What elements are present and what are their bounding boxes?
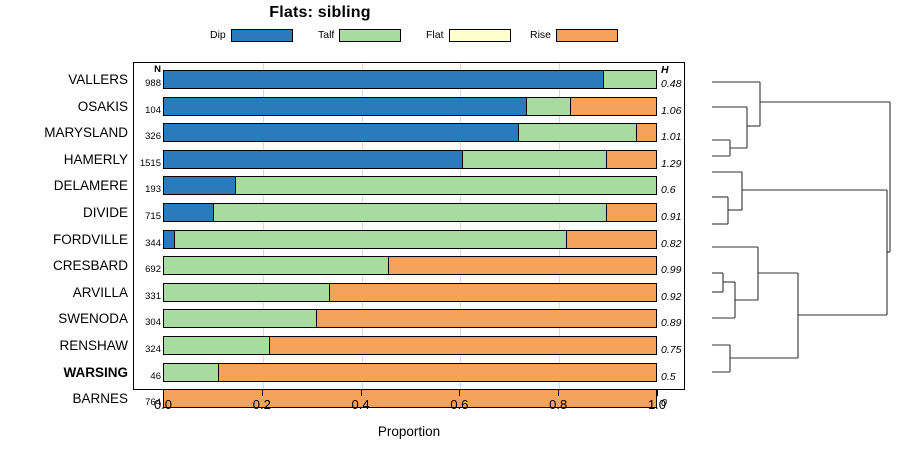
bar-segment-rise[interactable] <box>606 151 656 168</box>
bar-segment-dip[interactable] <box>164 151 462 168</box>
legend: DipTalfFlatRise <box>210 26 610 44</box>
bar-segment-rise[interactable] <box>329 284 656 301</box>
h-value: 0.91 <box>661 211 691 223</box>
h-value: 0.6 <box>661 184 691 196</box>
x-axis-tick <box>558 390 559 396</box>
bar-segment-talf[interactable] <box>174 231 566 248</box>
x-axis-tick <box>657 390 658 396</box>
legend-item-talf: Talf <box>318 26 401 44</box>
y-axis-label-renshaw: RENSHAW <box>0 339 128 353</box>
n-value: 193 <box>134 184 161 195</box>
bar-segment-rise[interactable] <box>269 337 656 354</box>
n-value: 46 <box>134 371 161 382</box>
legend-swatch <box>339 29 401 42</box>
stacked-bar-cresbard[interactable] <box>163 256 657 275</box>
stacked-bar-vallers[interactable] <box>163 70 657 89</box>
bar-segment-dip[interactable] <box>164 124 518 141</box>
bar-segment-talf[interactable] <box>164 310 316 327</box>
n-value: 304 <box>134 317 161 328</box>
cluster-dendrogram <box>690 60 900 400</box>
chart-root: Flats: sibling DipTalfFlatRise VALLERSOS… <box>0 0 900 460</box>
x-axis-tick-label: 0.8 <box>528 397 588 412</box>
h-value: 1.06 <box>661 105 691 117</box>
n-value: 326 <box>134 131 161 142</box>
bar-segment-talf[interactable] <box>213 204 607 221</box>
n-value: 988 <box>134 78 161 89</box>
stacked-bar-delamere[interactable] <box>163 176 657 195</box>
x-axis-title: Proportion <box>133 424 685 439</box>
legend-swatch <box>231 29 293 42</box>
x-axis-tick-label: 0.4 <box>331 397 391 412</box>
y-axis-label-delamere: DELAMERE <box>0 179 128 193</box>
bar-segment-dip[interactable] <box>164 98 526 115</box>
h-value: 1.29 <box>661 158 691 170</box>
h-value: 0.75 <box>661 344 691 356</box>
y-axis-label-divide: DIVIDE <box>0 206 128 220</box>
bar-segment-talf[interactable] <box>603 71 656 88</box>
bar-segment-talf[interactable] <box>235 177 656 194</box>
bar-segment-rise[interactable] <box>388 257 656 274</box>
legend-label: Talf <box>318 29 334 41</box>
bar-segment-dip[interactable] <box>164 204 213 221</box>
n-value: 324 <box>134 344 161 355</box>
x-axis-tick-label: 1.0 <box>627 397 687 412</box>
dendrogram-links <box>712 82 890 372</box>
legend-swatch <box>556 29 618 42</box>
h-column-header: H <box>661 64 691 76</box>
stacked-bar-warsing[interactable] <box>163 363 657 382</box>
n-value: 715 <box>134 211 161 222</box>
legend-item-flat: Flat <box>426 26 511 44</box>
bar-segment-dip[interactable] <box>164 71 603 88</box>
x-axis-tick-label: 0.6 <box>429 397 489 412</box>
h-value: 0.82 <box>661 238 691 250</box>
stacked-bar-divide[interactable] <box>163 203 657 222</box>
bar-segment-dip[interactable] <box>164 177 235 194</box>
bar-segment-dip[interactable] <box>164 231 174 248</box>
n-value: 1515 <box>134 158 161 169</box>
y-axis-label-fordville: FORDVILLE <box>0 233 128 247</box>
y-axis-label-arvilla: ARVILLA <box>0 286 128 300</box>
x-axis-tick <box>361 390 362 396</box>
bar-segment-talf[interactable] <box>164 337 269 354</box>
h-value: 0.48 <box>661 78 691 90</box>
h-value: 0.92 <box>661 291 691 303</box>
bar-segment-talf[interactable] <box>518 124 637 141</box>
legend-item-rise: Rise <box>530 26 618 44</box>
x-axis-tick-label: 0.2 <box>232 397 292 412</box>
legend-label: Dip <box>210 29 226 41</box>
stacked-bar-fordville[interactable] <box>163 230 657 249</box>
bar-segment-rise[interactable] <box>316 310 656 327</box>
stacked-bar-marysland[interactable] <box>163 123 657 142</box>
legend-swatch <box>449 29 511 42</box>
y-axis-label-vallers: VALLERS <box>0 73 128 87</box>
bar-segment-talf[interactable] <box>164 284 329 301</box>
stacked-bar-hamerly[interactable] <box>163 150 657 169</box>
n-column-header: N <box>134 64 161 75</box>
n-value: 344 <box>134 238 161 249</box>
h-value: 0.89 <box>661 317 691 329</box>
y-axis-label-osakis: OSAKIS <box>0 100 128 114</box>
x-axis-tick <box>262 390 263 396</box>
bar-segment-talf[interactable] <box>164 364 218 381</box>
bar-segment-rise[interactable] <box>218 364 656 381</box>
stacked-bar-swenoda[interactable] <box>163 309 657 328</box>
x-axis-tick <box>163 390 164 396</box>
bar-segment-talf[interactable] <box>164 257 388 274</box>
bar-segment-rise[interactable] <box>570 98 656 115</box>
y-axis-label-marysland: MARYSLAND <box>0 126 128 140</box>
y-axis-label-barnes: BARNES <box>0 392 128 406</box>
legend-item-dip: Dip <box>210 26 293 44</box>
bar-segment-rise[interactable] <box>606 204 656 221</box>
y-axis-label-warsing: WARSING <box>0 366 128 380</box>
y-axis-label-hamerly: HAMERLY <box>0 153 128 167</box>
x-axis-tick-label: 0.0 <box>133 397 193 412</box>
n-value: 104 <box>134 105 161 116</box>
n-value: 331 <box>134 291 161 302</box>
stacked-bar-osakis[interactable] <box>163 97 657 116</box>
y-axis-label-cresbard: CRESBARD <box>0 259 128 273</box>
legend-label: Rise <box>530 29 551 41</box>
h-value: 0.5 <box>661 371 691 383</box>
n-value: 692 <box>134 264 161 275</box>
stacked-bar-renshaw[interactable] <box>163 336 657 355</box>
bar-segment-talf[interactable] <box>462 151 607 168</box>
h-value: 0.99 <box>661 264 691 276</box>
bar-segment-talf[interactable] <box>526 98 571 115</box>
x-axis-tick <box>459 390 460 396</box>
y-axis-label-swenoda: SWENODA <box>0 312 128 326</box>
h-value: 1.01 <box>661 131 691 143</box>
bar-segment-rise[interactable] <box>636 124 656 141</box>
chart-title: Flats: sibling <box>0 4 640 22</box>
dendrogram-svg <box>690 60 900 400</box>
stacked-bar-arvilla[interactable] <box>163 283 657 302</box>
bar-segment-rise[interactable] <box>566 231 656 248</box>
legend-label: Flat <box>426 29 444 41</box>
